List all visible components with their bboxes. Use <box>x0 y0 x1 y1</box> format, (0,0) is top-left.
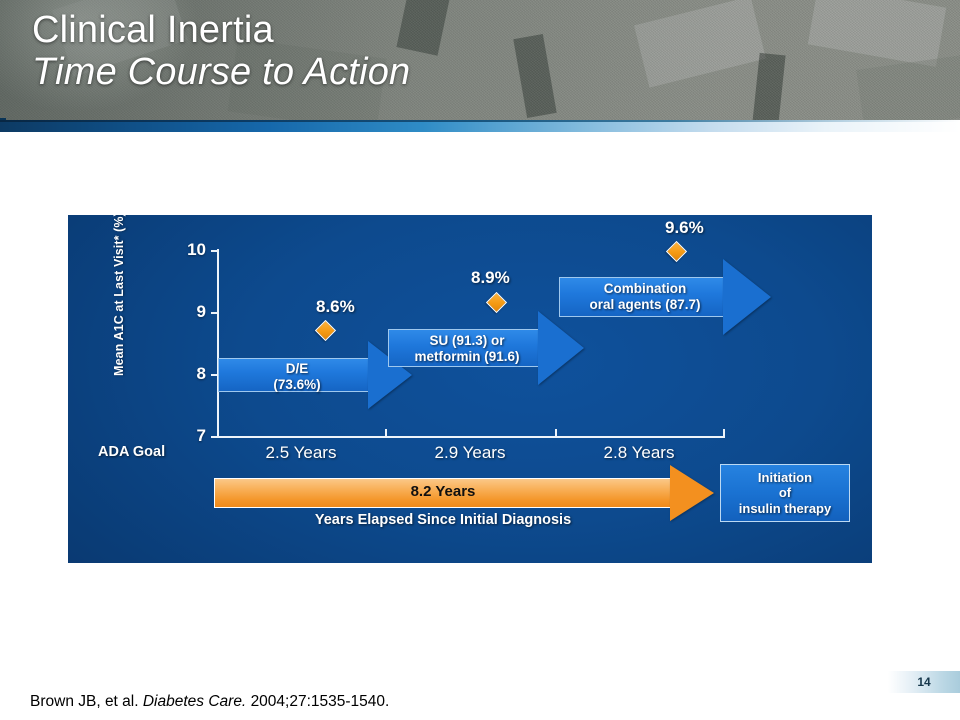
insulin-initiation-box: Initiation of insulin therapy <box>720 464 850 522</box>
slide-header: Clinical Inertia Time Course to Action <box>0 0 960 122</box>
value-label-8-9: 8.9% <box>471 268 510 288</box>
data-marker-8-9 <box>486 292 507 313</box>
value-label-9-6: 9.6% <box>665 218 704 238</box>
insulin-box-line3: insulin therapy <box>739 501 831 517</box>
arrow-label-de: D/E (73.6%) <box>218 361 376 393</box>
x-tick-1 <box>385 429 387 438</box>
insulin-box-line1: Initiation <box>739 470 831 486</box>
arrow-label-line2: (73.6%) <box>218 377 376 393</box>
page-subtitle: Time Course to Action <box>32 52 410 92</box>
y-tick-label: 7 <box>197 426 206 446</box>
insulin-box-text: Initiation of insulin therapy <box>739 470 831 517</box>
y-tick-label: 9 <box>197 302 206 322</box>
arrow-label-combination: Combination oral agents (87.7) <box>559 281 731 313</box>
y-tick-label: 10 <box>187 240 206 260</box>
citation: Brown JB, et al. Diabetes Care. 2004;27:… <box>30 693 389 711</box>
interval-label-2: 2.9 Years <box>400 443 540 463</box>
arrow-label-line1: SU (91.3) or <box>388 333 546 349</box>
arrow-label-line1: Combination <box>559 281 731 297</box>
data-marker-8-6 <box>315 320 336 341</box>
arrow-label-line2: oral agents (87.7) <box>559 297 731 313</box>
y-tick-9: 9 <box>211 312 219 314</box>
y-axis-line <box>217 249 219 438</box>
insulin-box-line2: of <box>739 485 831 501</box>
value-label-8-6: 8.6% <box>316 297 355 317</box>
total-duration-label: 8.2 Years <box>214 483 672 500</box>
slide-number: 14 <box>917 675 930 689</box>
interval-label-3: 2.8 Years <box>569 443 709 463</box>
citation-authors: Brown JB, et al. <box>30 693 139 710</box>
x-axis-title: Years Elapsed Since Initial Diagnosis <box>214 512 672 528</box>
arrow-label-su-metformin: SU (91.3) or metformin (91.6) <box>388 333 546 365</box>
x-axis-line <box>217 436 725 438</box>
arrow-label-line2: metformin (91.6) <box>388 349 546 365</box>
y-tick-10: 10 <box>211 250 219 252</box>
slide-number-badge: 14 <box>888 671 960 693</box>
citation-journal: Diabetes Care. <box>143 693 246 710</box>
citation-reference: 2004;27:1535-1540. <box>251 693 390 710</box>
interval-label-1: 2.5 Years <box>231 443 371 463</box>
x-tick-0 <box>217 429 219 438</box>
x-tick-3 <box>723 429 725 438</box>
chart-panel: Mean A1C at Last Visit* (%) 10 9 8 7 D/E… <box>68 215 872 563</box>
y-tick-label: 8 <box>197 364 206 384</box>
banner-gradient-bar <box>0 122 960 132</box>
slide-title-block: Clinical Inertia Time Course to Action <box>32 10 410 93</box>
data-marker-9-6 <box>666 241 687 262</box>
ada-goal-label: ADA Goal <box>98 444 165 460</box>
x-tick-2 <box>555 429 557 438</box>
y-axis-title: Mean A1C at Last Visit* (%) <box>112 215 126 379</box>
page-title: Clinical Inertia <box>32 10 410 50</box>
arrow-label-line1: D/E <box>218 361 376 377</box>
total-duration-arrow-head <box>670 465 714 521</box>
